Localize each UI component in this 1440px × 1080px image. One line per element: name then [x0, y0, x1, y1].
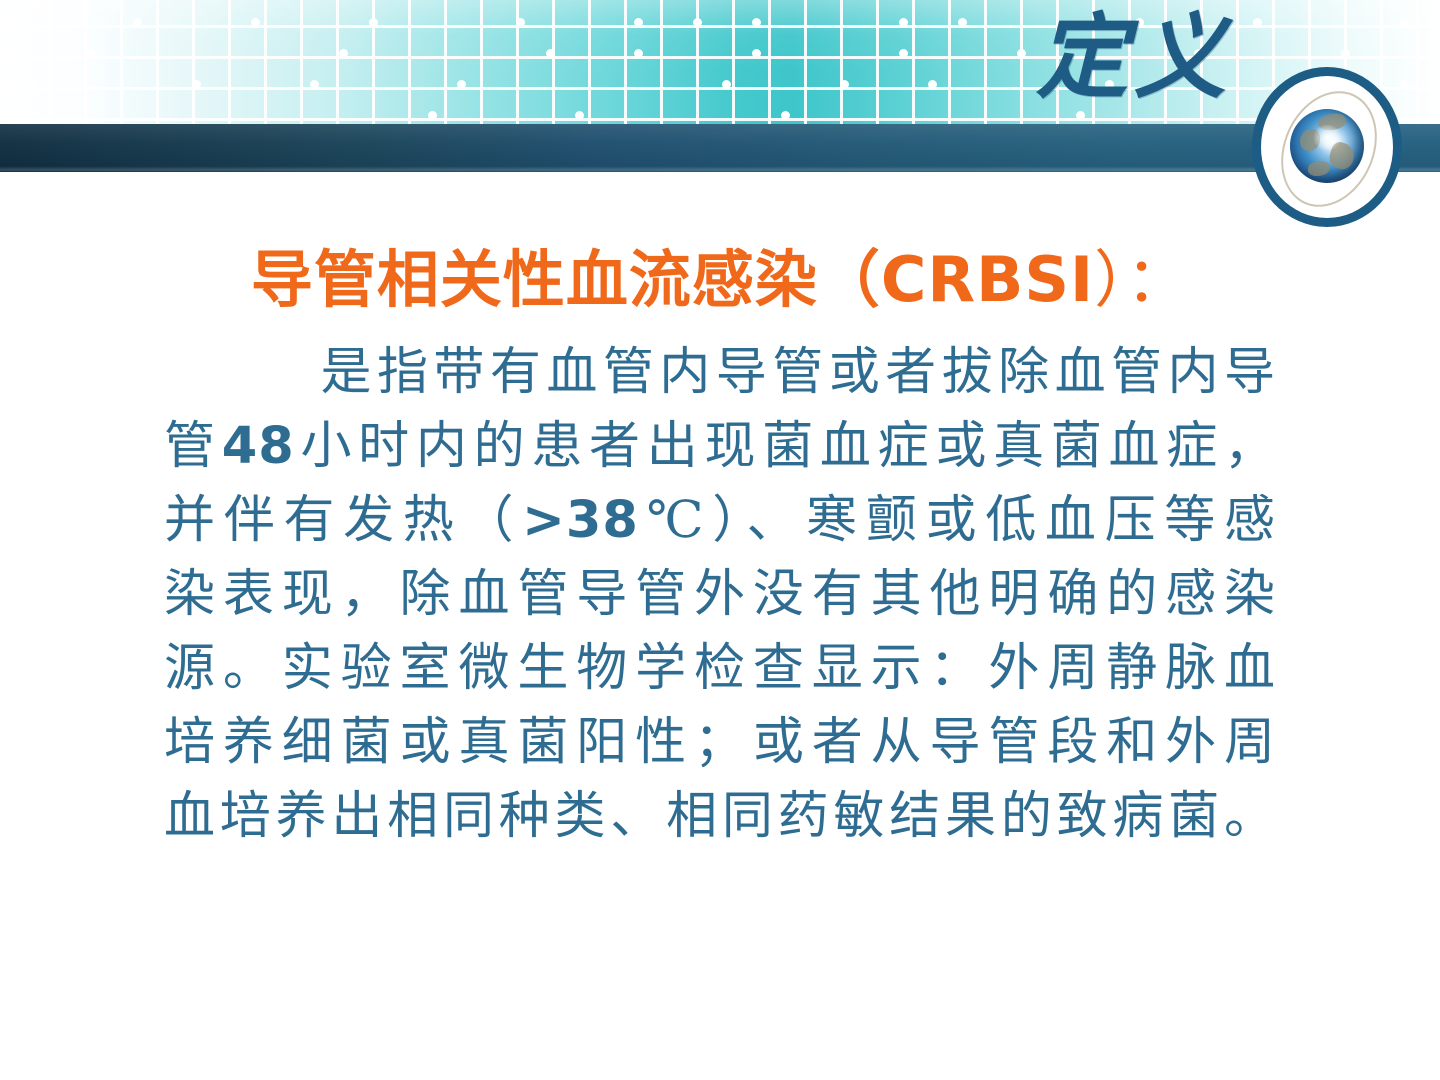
globe-landmass	[1308, 161, 1330, 176]
globe-icon	[1290, 109, 1364, 183]
grid-dot	[634, 49, 643, 58]
grid-dot	[27, 80, 36, 89]
grid-dot	[251, 18, 260, 27]
grid-dot	[840, 80, 849, 89]
slide-root: 定义 导管相关性血流感染（CRBSI）： 是指带有血管内导管或者拔除血管内导管4…	[0, 0, 1440, 1080]
grid-dot	[133, 18, 142, 27]
emphasis-number: 48	[222, 417, 295, 476]
grid-dot	[428, 111, 437, 120]
grid-dot	[1341, 49, 1350, 58]
grid-dot	[1017, 49, 1026, 58]
emphasis-number: >38	[522, 491, 639, 550]
grid-dot	[310, 80, 319, 89]
grid-dot	[899, 18, 908, 27]
definition-paragraph: 是指带有血管内导管或者拔除血管内导管48小时内的患者出现菌血症或真菌血症，并伴有…	[164, 336, 1276, 854]
grid-dot	[546, 49, 555, 58]
grid-dot	[516, 18, 525, 27]
paragraph-line: 染表现，除血管导管外没有其他明确的感染	[164, 558, 1276, 632]
grid-dot	[457, 80, 466, 89]
grid-dot	[722, 80, 731, 89]
page-title: 定义	[1036, 2, 1232, 112]
globe-emblem	[1252, 67, 1402, 227]
grid-dot	[339, 49, 348, 58]
navy-ribbon-highlight	[0, 124, 1440, 172]
slide-content: 导管相关性血流感染（CRBSI）： 是指带有血管内导管或者拔除血管内导管48小时…	[0, 238, 1440, 854]
paragraph-line: 是指带有血管内导管或者拔除血管内导	[164, 336, 1276, 410]
crbsi-heading-tail: ）：	[1094, 243, 1189, 316]
grid-dot	[86, 49, 95, 58]
grid-dot	[693, 18, 702, 27]
paragraph-line: 管48小时内的患者出现菌血症或真菌血症，	[164, 410, 1276, 484]
grid-dot	[928, 80, 937, 89]
crbsi-heading: 导管相关性血流感染（CRBSI）：	[0, 238, 1440, 322]
grid-dot	[752, 49, 761, 58]
paragraph-line: 培养细菌或真菌阳性；或者从导管段和外周	[164, 706, 1276, 780]
grid-dot	[958, 18, 967, 27]
paragraph-line: 源。实验室微生物学检查显示：外周静脉血	[164, 632, 1276, 706]
grid-dot	[781, 111, 790, 120]
grid-dot	[192, 80, 201, 89]
grid-dot	[752, 18, 761, 27]
grid-dot	[1400, 18, 1409, 27]
grid-dot	[575, 111, 584, 120]
grid-dot	[1253, 18, 1262, 27]
grid-dot	[899, 49, 908, 58]
paragraph-line: 血培养出相同种类、相同药敏结果的致病菌。	[164, 780, 1276, 854]
grid-dot	[369, 18, 378, 27]
crbsi-heading-main: 导管相关性血流感染（CRBSI	[251, 243, 1094, 316]
grid-dot	[634, 18, 643, 27]
grid-dot	[1076, 111, 1085, 120]
paragraph-line: 并伴有发热（>38℃）、寒颤或低血压等感	[164, 484, 1276, 558]
